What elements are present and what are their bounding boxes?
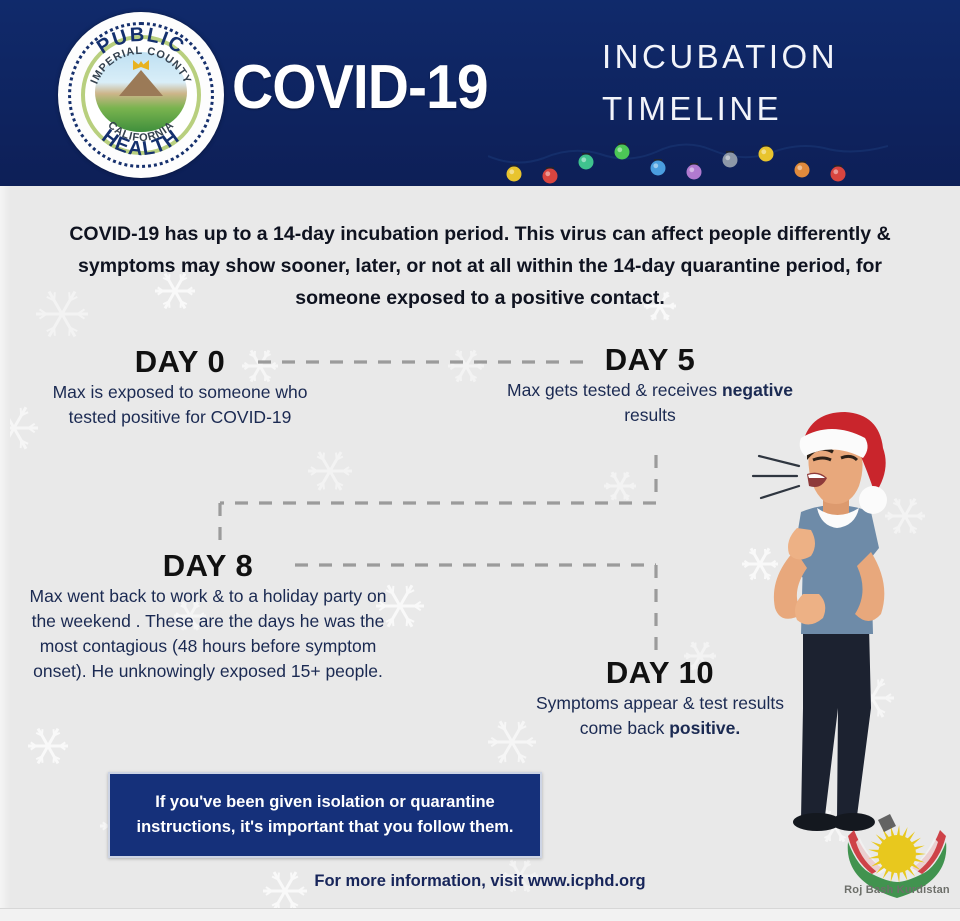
watermark-label: Roj Bash Kurdistan — [838, 884, 956, 896]
light-highlight — [617, 147, 622, 152]
day5-heading: DAY 5 — [505, 342, 795, 378]
sun-ray — [871, 841, 882, 847]
sun-ray — [876, 834, 885, 843]
christmas-lights-decoration — [488, 130, 888, 186]
sun-ray — [902, 870, 907, 881]
header-subtitle-line1: INCUBATION — [602, 38, 838, 76]
light-bulb-teal — [579, 155, 594, 170]
sun-ray — [897, 872, 900, 883]
day5-text-emphasis: negative — [722, 380, 793, 400]
snowflake-icon — [604, 472, 636, 500]
sun-ray — [868, 850, 879, 853]
sun-ray — [914, 845, 925, 850]
light-highlight — [509, 169, 514, 174]
sun-ray — [907, 831, 915, 841]
light-highlight — [725, 155, 730, 160]
snowflake-icon — [488, 721, 536, 763]
day0-heading: DAY 0 — [40, 344, 320, 380]
timeline-step-day8: DAY 8 Max went back to work & to a holid… — [28, 548, 388, 684]
cough-spray-lines — [753, 456, 799, 498]
snowflake-icon — [448, 350, 484, 381]
light-bulb-red-2 — [831, 167, 846, 182]
covid-incubation-timeline-infographic: PUBLIC HEALTH IMPERIAL COUNTY CALIFORNIA… — [0, 0, 960, 921]
light-bulb-red — [543, 169, 558, 184]
snowflake-icon — [28, 729, 68, 764]
day5-text-suffix: results — [624, 405, 676, 425]
day0-text: Max is exposed to someone who tested pos… — [53, 382, 308, 427]
left-hand — [788, 528, 815, 560]
day5-text-prefix: Max gets tested & receives — [507, 380, 722, 400]
page-title: COVID-19 — [232, 52, 488, 123]
kurdistan-sun-emblem — [868, 825, 926, 883]
day0-description: Max is exposed to someone who tested pos… — [40, 380, 320, 430]
left-edge-shading — [0, 186, 10, 908]
day8-description: Max went back to work & to a holiday par… — [28, 584, 388, 684]
light-highlight — [545, 171, 550, 176]
light-bulb-purple — [687, 165, 702, 180]
footer-more-information: For more information, visit www.icphd.or… — [180, 872, 780, 891]
light-bulb-yellow — [507, 167, 522, 182]
watermark-dark-shape — [878, 814, 896, 832]
light-highlight — [833, 169, 838, 174]
light-bulb-orange — [795, 163, 810, 178]
sun-ray — [897, 825, 900, 836]
light-bulb-yellow-2 — [759, 147, 774, 162]
day8-heading: DAY 8 — [28, 548, 388, 584]
header-banner: PUBLIC HEALTH IMPERIAL COUNTY CALIFORNIA… — [0, 0, 960, 186]
sun-ray — [902, 827, 907, 838]
bottom-edge-strip — [0, 908, 960, 921]
intro-paragraph: COVID-19 has up to a 14-day incubation p… — [60, 218, 900, 314]
light-highlight — [761, 149, 766, 154]
timeline-step-day0: DAY 0 Max is exposed to someone who test… — [40, 344, 320, 430]
pants-shape — [801, 626, 871, 820]
light-bulb-green — [615, 145, 630, 160]
light-highlight — [653, 163, 658, 168]
coughing-man-with-santa-hat-illustration — [745, 408, 925, 858]
sun-ray — [911, 838, 921, 845]
santa-hat-pompom — [859, 486, 887, 514]
day10-text-emphasis: positive. — [669, 718, 740, 738]
light-bulb-blue — [651, 161, 666, 176]
callout-text: If you've been given isolation or quaran… — [110, 790, 540, 840]
light-highlight — [689, 167, 694, 172]
header-subtitle-line2: TIMELINE — [602, 90, 782, 128]
light-bulb-gray — [723, 153, 738, 168]
imperial-county-public-health-seal: PUBLIC HEALTH IMPERIAL COUNTY CALIFORNIA — [58, 12, 224, 178]
day8-text: Max went back to work & to a holiday par… — [30, 586, 387, 681]
sun-ray — [891, 871, 895, 882]
light-highlight — [797, 165, 802, 170]
light-highlight — [581, 157, 586, 162]
isolation-instructions-callout: If you've been given isolation or quaran… — [108, 772, 542, 858]
snowflake-icon — [308, 452, 352, 490]
